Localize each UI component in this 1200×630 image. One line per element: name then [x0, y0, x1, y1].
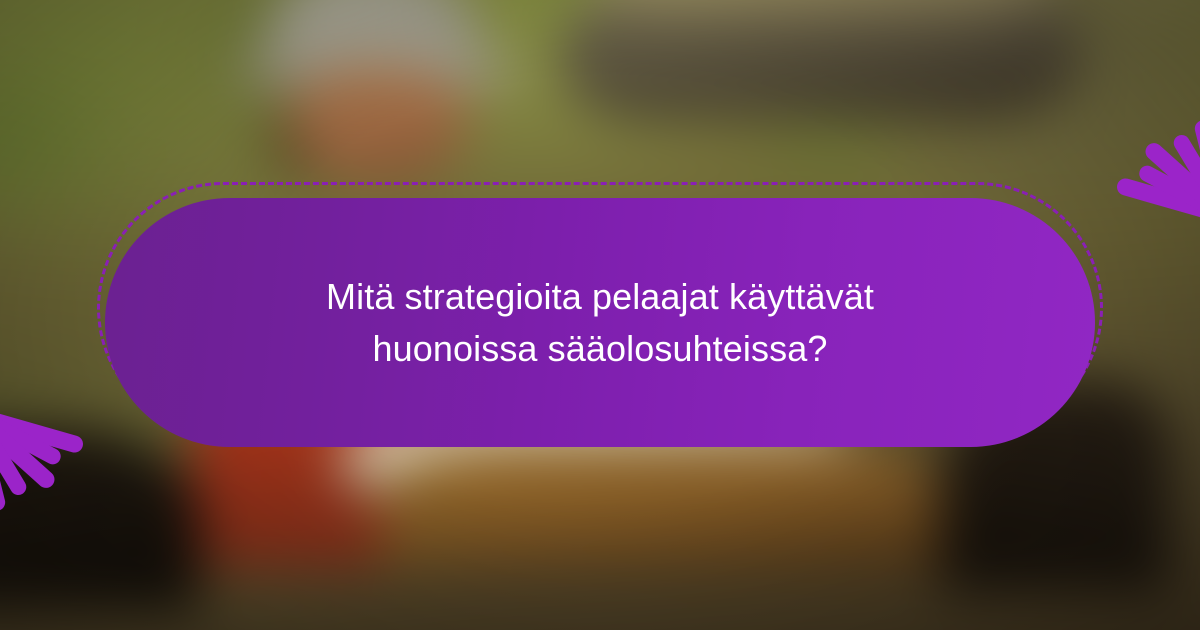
question-card: Mitä strategioita pelaajat käyttävät huo…: [105, 198, 1095, 447]
social-card-canvas: Mitä strategioita pelaajat käyttävät huo…: [0, 0, 1200, 630]
question-title: Mitä strategioita pelaajat käyttävät huo…: [280, 271, 920, 373]
